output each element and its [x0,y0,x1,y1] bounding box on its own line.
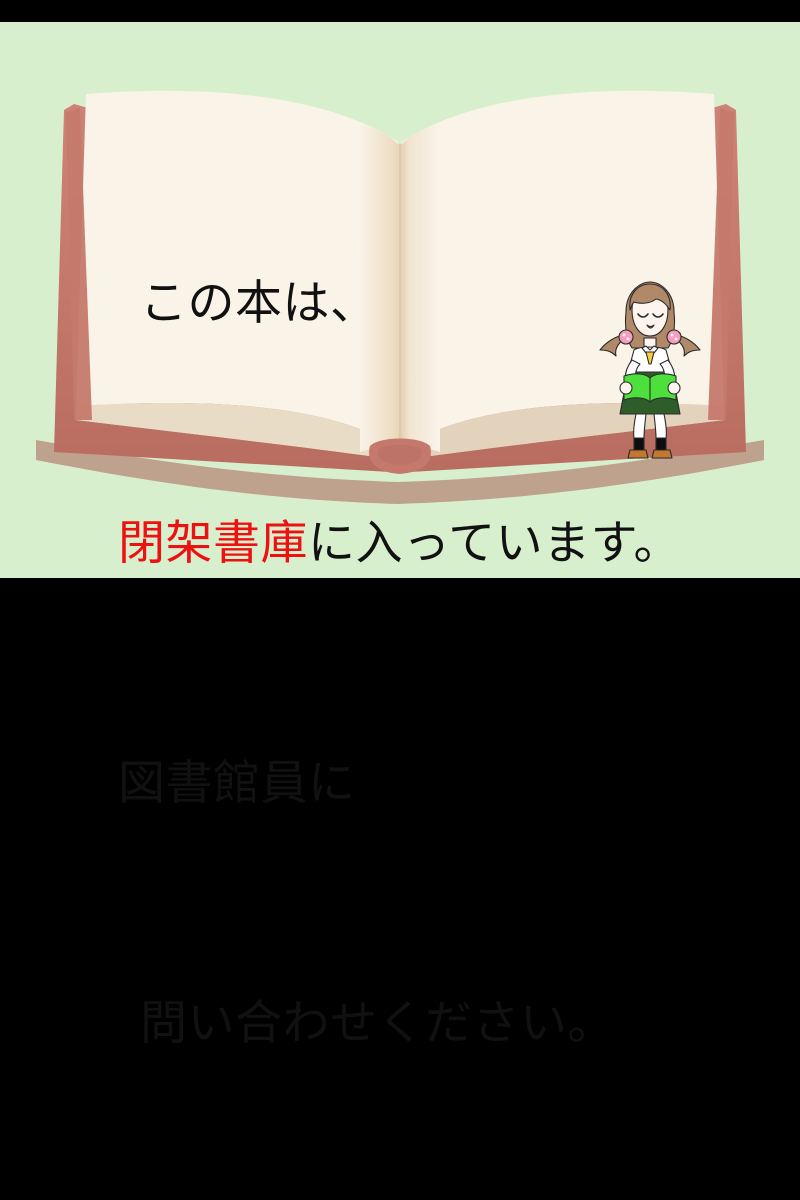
message-line-3-text: 図書館員に [118,756,356,811]
hand-left [620,382,632,394]
message-line-2-rest: に入っています。 [308,516,681,571]
book-message-text: この本は、 閉架書庫に入っています。 図書館員に 問い合わせください。 [118,104,698,1200]
boot-shaft-right [656,438,666,450]
message-line-1-text: この本は、 [140,276,378,331]
shoe-left [628,450,648,458]
leg-right [654,414,666,438]
letterbox-top [0,0,800,22]
hair-tie-left [619,330,633,344]
girl-reading-illustration [592,276,708,462]
message-line-2-accent: 閉架書庫 [118,516,308,571]
hair-tie-right [667,330,681,344]
message-line-4-text: 問い合わせください。 [140,996,615,1051]
hand-right [668,382,680,394]
message-line-2: 閉架書庫に入っています。 [118,504,698,584]
letterbox-bottom [0,578,800,600]
leg-left [634,414,646,438]
message-line-4: 問い合わせください。 [118,984,698,1064]
slide-canvas: この本は、 閉架書庫に入っています。 図書館員に 問い合わせください。 [0,0,800,600]
message-line-3: 図書館員に [118,744,698,824]
shoe-right [652,450,672,458]
boot-shaft-left [634,438,644,450]
